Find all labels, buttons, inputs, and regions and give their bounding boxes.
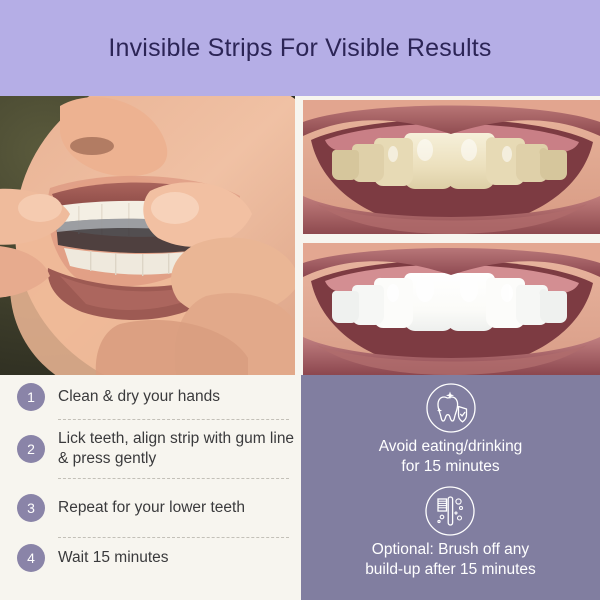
tip-brush-off: Optional: Brush off any build-up after 1… (365, 485, 536, 580)
after-teeth-photo (303, 243, 600, 375)
step-label: Clean & dry your hands (58, 387, 220, 407)
tooth-shield-icon (425, 382, 477, 434)
list-item: 1 Clean & dry your hands (0, 375, 297, 419)
before-teeth-photo-graphic (303, 100, 600, 234)
list-item: 2 Lick teeth, align strip with gum line … (0, 420, 297, 478)
header-banner: Invisible Strips For Visible Results (0, 0, 600, 96)
tip-avoid-eating: Avoid eating/drinking for 15 minutes (379, 382, 523, 477)
infographic-root: Invisible Strips For Visible Results (0, 0, 600, 600)
step-label: Lick teeth, align strip with gum line & … (58, 429, 297, 469)
steps-list: 1 Clean & dry your hands 2 Lick teeth, a… (0, 375, 297, 600)
applying-strip-photo-graphic (0, 96, 295, 375)
applying-strip-photo (0, 96, 295, 375)
tip-label: Optional: Brush off any build-up after 1… (365, 540, 536, 580)
step-label: Repeat for your lower teeth (58, 498, 245, 518)
tip-label: Avoid eating/drinking for 15 minutes (379, 437, 523, 477)
step-number-badge: 4 (17, 544, 45, 572)
after-teeth-photo-graphic (303, 243, 600, 375)
tips-panel: Avoid eating/drinking for 15 minutes (301, 375, 600, 600)
before-teeth-photo (303, 100, 600, 234)
page-title: Invisible Strips For Visible Results (108, 34, 491, 63)
step-label: Wait 15 minutes (58, 548, 169, 568)
list-item: 3 Repeat for your lower teeth (0, 479, 297, 537)
step-number-badge: 3 (17, 494, 45, 522)
list-item: 4 Wait 15 minutes (0, 538, 297, 578)
step-number-badge: 1 (17, 383, 45, 411)
step-number-badge: 2 (17, 435, 45, 463)
toothbrush-icon (424, 485, 476, 537)
